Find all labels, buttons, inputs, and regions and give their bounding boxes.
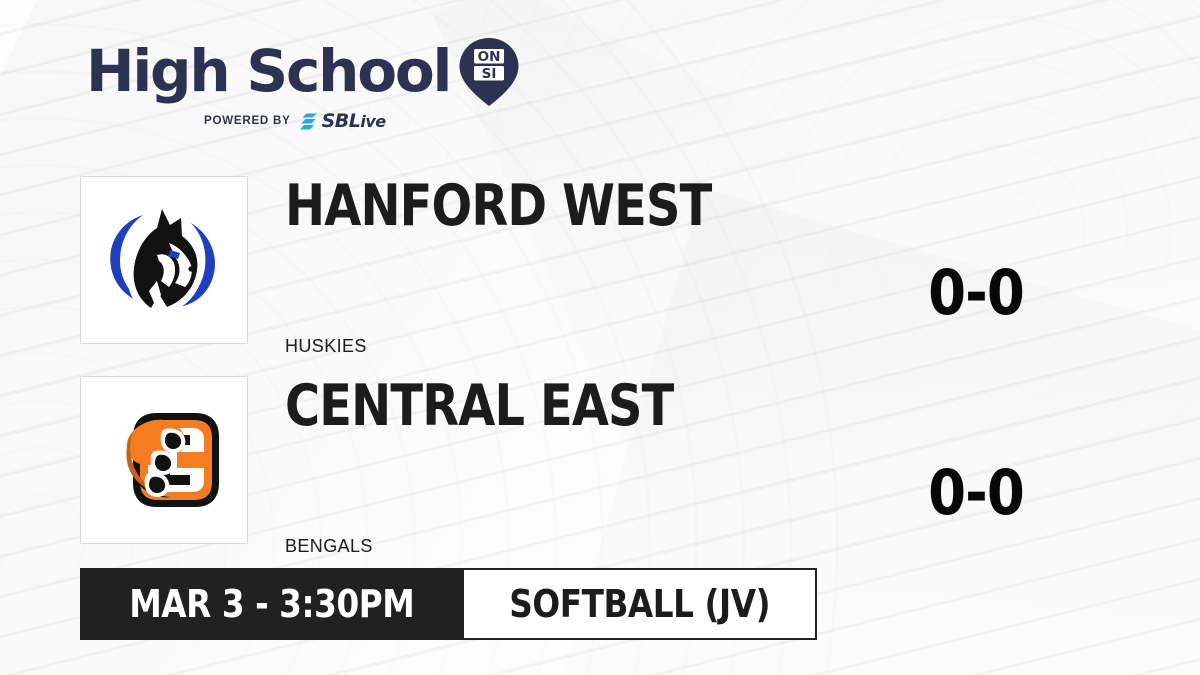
event-datetime-text: MAR 3 - 3:30PM [129,582,414,626]
brand-header: High School ON SI POWERED BY SBLi [86,36,516,132]
sblive-wordmark: SBLive [322,110,386,132]
brand-powered-by-row: POWERED BY SBLive [86,110,516,132]
team-score-home: 0-0 [928,262,1024,324]
event-banner: MAR 3 - 3:30PM SOFTBALL (JV) [80,568,817,640]
team-name-home: HANFORD WEST [285,178,711,235]
matchup-graphic: High School ON SI POWERED BY SBLi [0,0,1200,675]
team-logo-home [80,176,248,344]
team-mascot-away: BENGALS [285,536,373,557]
team-score-away: 0-0 [928,462,1024,524]
sblive-logo: SBLive [299,110,386,132]
sblive-s-icon [299,112,319,131]
team-logo-away [80,376,248,544]
event-sport: SOFTBALL (JV) [464,568,817,640]
svg-text:SI: SI [482,66,497,82]
event-sport-text: SOFTBALL (JV) [509,582,770,626]
husky-head-logo [99,195,229,325]
team-mascot-home: HUSKIES [285,336,367,357]
team-name-away: CENTRAL EAST [285,378,674,435]
sblive-main: SBL [322,110,361,132]
brand-wordmark: High School [86,44,450,99]
sblive-lite: ive [360,112,385,131]
powered-by-label: POWERED BY [204,115,291,127]
bengal-paw-c-logo [99,395,229,525]
location-pin-icon: ON SI [458,36,520,108]
brand-logo-row: High School ON SI [86,36,516,108]
event-datetime: MAR 3 - 3:30PM [80,568,464,640]
svg-text:ON: ON [478,49,501,65]
